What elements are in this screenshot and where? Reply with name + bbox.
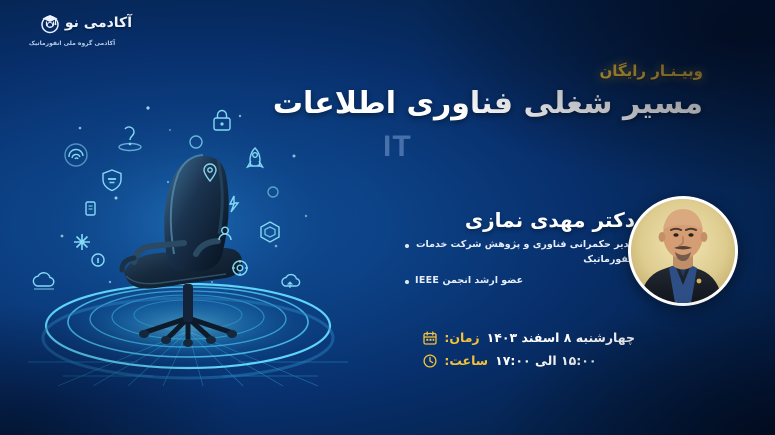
illustration-office-chair: [18, 86, 358, 386]
credential-text: مدیر حکمرانی فناوری و پژوهش شرکت خدمات ا…: [415, 238, 635, 267]
meta-row-date: زمان: چهارشنبه ۸ اسفند ۱۴۰۳: [423, 330, 635, 345]
meta-value-date: چهارشنبه ۸ اسفند ۱۴۰۳: [487, 330, 635, 345]
brand-tagline: آکادمی گروه ملی انفورماتیک: [12, 40, 132, 47]
speaker-avatar: [628, 196, 738, 306]
meta-row-time: ساعت: ۱۵:۰۰ الی ۱۷:۰۰: [423, 353, 635, 368]
meta-value-time: ۱۵:۰۰ الی ۱۷:۰۰: [495, 353, 596, 368]
brand-logo[interactable]: آکادمی نو آکادمی گروه ملی انفورماتیک: [12, 8, 132, 54]
event-meta: زمان: چهارشنبه ۸ اسفند ۱۴۰۳ ساعت: ۱۵:۰۰ …: [423, 330, 635, 376]
webinar-banner: آکادمی نو آکادمی گروه ملی انفورماتیک: [0, 0, 775, 435]
list-item: عضو ارشد انجمن IEEE: [405, 274, 635, 289]
calendar-icon: [423, 331, 437, 345]
it-watermark: IT: [383, 130, 412, 164]
page-title: مسیر شغلی فناوری اطلاعات: [273, 86, 703, 121]
hero-kicker: وبیـنـار رایگان: [599, 62, 703, 80]
clock-icon: [423, 354, 437, 368]
meta-label-time: ساعت:: [444, 353, 488, 368]
graduation-cap-icon: [37, 10, 63, 36]
brand-logo-row: آکادمی نو: [12, 8, 132, 38]
credential-text: عضو ارشد انجمن IEEE: [415, 274, 523, 289]
bullet-dot-icon: [405, 280, 409, 284]
meta-label-date: زمان:: [444, 330, 479, 345]
speaker-credentials: مدیر حکمرانی فناوری و پژوهش شرکت خدمات ا…: [405, 238, 635, 296]
speaker-name: دکتر مهدی نمازی: [465, 208, 635, 232]
brand-name: آکادمی نو: [65, 15, 132, 31]
bullet-dot-icon: [405, 244, 409, 248]
list-item: مدیر حکمرانی فناوری و پژوهش شرکت خدمات ا…: [405, 238, 635, 267]
